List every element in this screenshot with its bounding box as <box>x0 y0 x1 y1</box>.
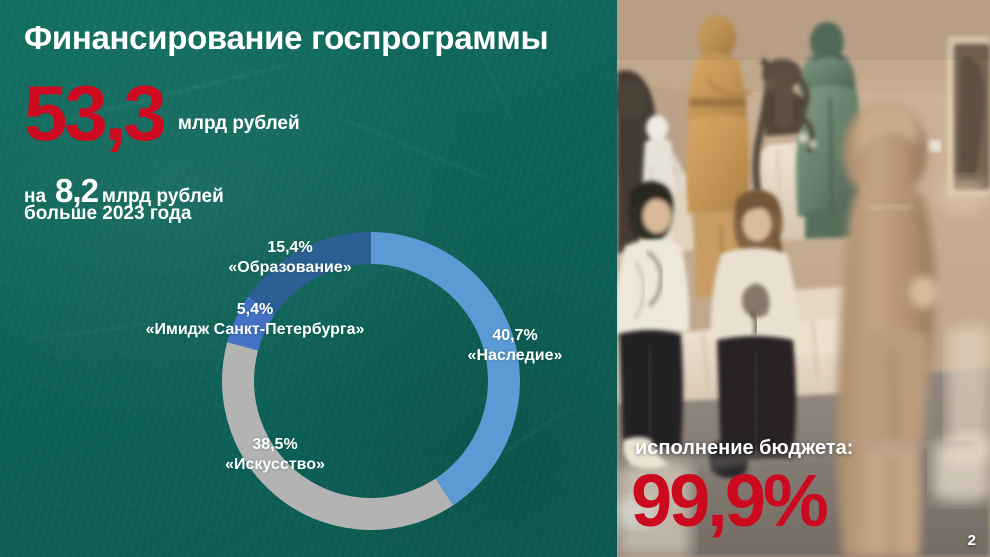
budget-execution-value: 99,9% <box>631 464 826 538</box>
donut-label-education-value: 15,4% <box>190 238 390 258</box>
budget-execution-caption: исполнение бюджета: <box>635 437 853 460</box>
presentation-slide: Финансирование госпрограммы 53,3 млрд ру… <box>0 0 990 557</box>
donut-label-education: 15,4% «Образование» <box>190 238 390 278</box>
donut-label-image-name: «Имидж Санкт-Петербурга» <box>105 320 405 340</box>
donut-label-heritage-name: «Наследие» <box>440 346 590 366</box>
donut-label-image: 5,4% «Имидж Санкт-Петербурга» <box>105 300 405 340</box>
page-title: Финансирование госпрограммы <box>24 19 548 57</box>
donut-slice <box>371 232 520 505</box>
headline-value: 53,3 <box>24 80 164 147</box>
delta-subtext: больше 2023 года <box>24 203 192 225</box>
donut-label-image-value: 5,4% <box>105 300 405 320</box>
left-content-panel: Финансирование госпрограммы 53,3 млрд ру… <box>0 0 617 557</box>
donut-label-art: 38,5% «Искусство» <box>175 435 375 475</box>
museum-photo-panel: исполнение бюджета: 99,9% 2 <box>617 0 990 557</box>
donut-label-art-value: 38,5% <box>175 435 375 455</box>
donut-label-heritage: 40,7% «Наследие» <box>440 326 590 366</box>
donut-label-education-name: «Образование» <box>190 258 390 278</box>
page-number: 2 <box>968 532 976 549</box>
headline-figure: 53,3 млрд рублей <box>24 80 300 147</box>
donut-label-heritage-value: 40,7% <box>440 326 590 346</box>
donut-label-art-name: «Искусство» <box>175 455 375 475</box>
headline-unit-label: млрд рублей <box>178 113 300 135</box>
